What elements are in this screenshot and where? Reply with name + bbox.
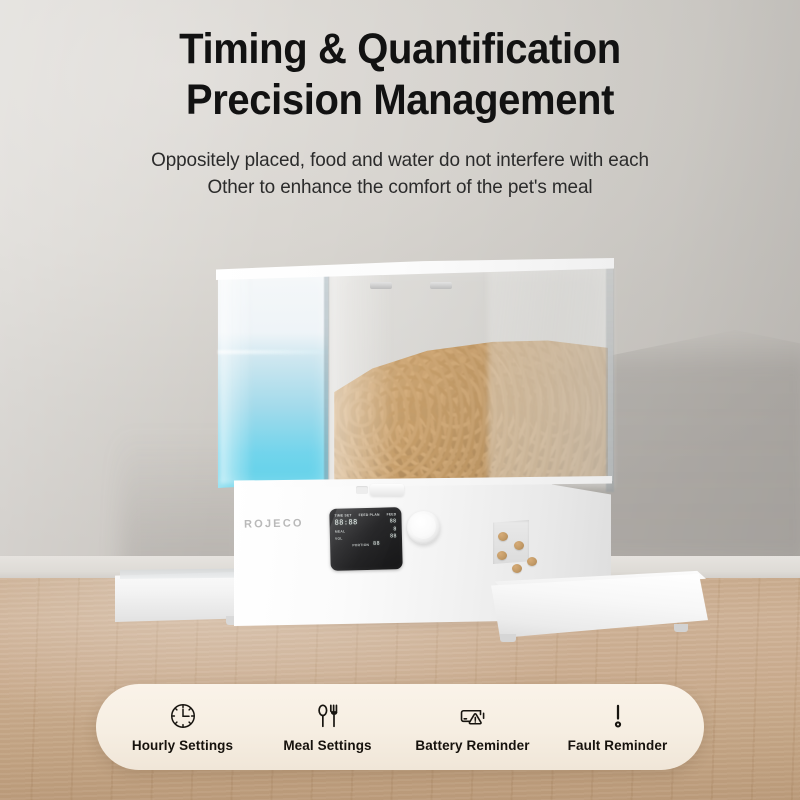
food-bowl-foot bbox=[674, 624, 688, 632]
falling-kibble bbox=[497, 551, 507, 560]
lcd-meal-row: MEAL 8 bbox=[335, 527, 397, 534]
lcd-label-feed-plan: FEED PLAN bbox=[359, 513, 380, 518]
exclamation-icon bbox=[603, 701, 633, 731]
feature-label: Fault Reminder bbox=[568, 738, 668, 753]
feature-label: Hourly Settings bbox=[132, 738, 233, 753]
pet-feeder-product: ROJECO TIME SET FEED PLAN FEED 88:88 88 … bbox=[108, 252, 698, 644]
clock-icon bbox=[168, 701, 198, 731]
falling-kibble bbox=[514, 541, 524, 550]
lcd-value-meal: 8 bbox=[393, 527, 397, 532]
hopper-latch[interactable] bbox=[370, 484, 404, 496]
tank-divider-edge bbox=[324, 270, 329, 492]
page-subtitle: Oppositely placed, food and water do not… bbox=[12, 147, 788, 201]
lcd-value-vol: 88 bbox=[390, 534, 397, 539]
hopper-clip bbox=[430, 282, 452, 289]
feature-bar: Hourly Settings Meal Settings bbox=[96, 684, 704, 770]
falling-kibble bbox=[512, 564, 522, 573]
falling-kibble bbox=[527, 557, 537, 566]
hopper-haze bbox=[488, 266, 613, 488]
feature-item-fault-reminder[interactable]: Fault Reminder bbox=[545, 701, 690, 753]
control-knob[interactable] bbox=[407, 511, 440, 544]
header: Timing & Quantification Precision Manage… bbox=[0, 0, 800, 201]
lcd-label-time-set: TIME SET bbox=[334, 513, 351, 517]
lcd-value-plan: 88 bbox=[390, 519, 397, 524]
latch-slot bbox=[356, 486, 368, 494]
lcd-vol-row: VOL 88 bbox=[335, 534, 397, 541]
hopper-gloss bbox=[330, 268, 394, 486]
cutlery-icon bbox=[313, 701, 343, 731]
subtitle-line-1: Oppositely placed, food and water do not… bbox=[12, 147, 788, 174]
lcd-top-labels: TIME SET FEED PLAN FEED bbox=[334, 512, 396, 518]
lcd-portion-row: PORTION 88 bbox=[335, 541, 397, 548]
headline-line-1: Timing & Quantification bbox=[28, 24, 772, 75]
falling-kibble bbox=[498, 532, 508, 541]
brand-logo: ROJECO bbox=[244, 517, 304, 530]
lcd-label-vol: VOL bbox=[335, 536, 343, 540]
page-title: Timing & Quantification Precision Manage… bbox=[28, 24, 772, 126]
feature-item-battery-reminder[interactable]: Battery Reminder bbox=[400, 701, 545, 753]
lcd-value-time: 88:88 bbox=[335, 519, 358, 527]
headline-line-2: Precision Management bbox=[28, 75, 772, 126]
lcd-label-meal: MEAL bbox=[335, 529, 346, 533]
lcd-time-row: 88:88 88 bbox=[335, 518, 397, 527]
feature-item-hourly-settings[interactable]: Hourly Settings bbox=[110, 701, 255, 753]
subtitle-line-2: Other to enhance the comfort of the pet'… bbox=[12, 174, 788, 201]
food-bowl-foot bbox=[500, 634, 516, 642]
lcd-label-feed: FEED bbox=[386, 512, 396, 516]
control-knob-top bbox=[411, 514, 436, 539]
lcd-label-portion: PORTION bbox=[352, 542, 369, 546]
lcd-display[interactable]: TIME SET FEED PLAN FEED 88:88 88 MEAL 8 … bbox=[329, 507, 402, 571]
hopper-clip bbox=[370, 282, 392, 289]
hopper-right-edge bbox=[606, 264, 614, 492]
feature-item-meal-settings[interactable]: Meal Settings bbox=[255, 701, 400, 753]
feature-label: Meal Settings bbox=[283, 738, 371, 753]
feature-label: Battery Reminder bbox=[415, 738, 529, 753]
lcd-value-portion: 88 bbox=[373, 542, 380, 547]
water-tank-gloss bbox=[220, 274, 254, 484]
battery-warning-icon bbox=[458, 701, 488, 731]
